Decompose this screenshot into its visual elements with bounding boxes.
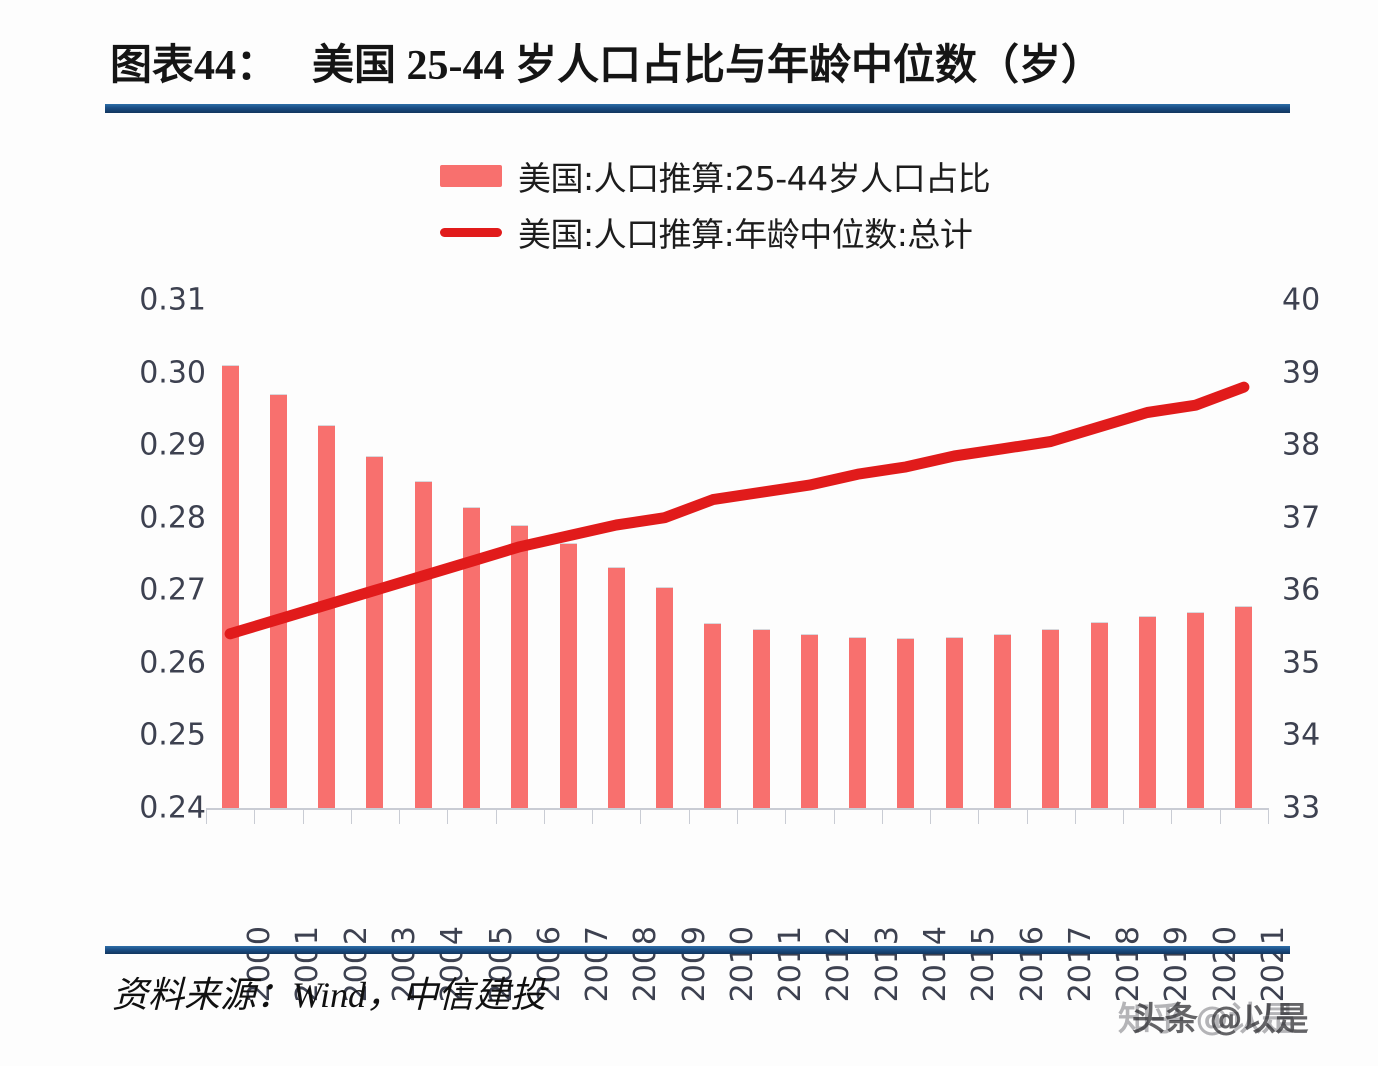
x-axis-ticks [206, 808, 1268, 824]
bar [753, 629, 770, 808]
x-axis-label: 2012 [821, 926, 856, 1002]
y-tick-right: 35 [1282, 645, 1320, 680]
bar [270, 394, 287, 808]
y-tick-left: 0.29 [139, 428, 206, 463]
bar [511, 525, 528, 808]
watermark: 知乎 @认是 头条 @以是 [1118, 990, 1370, 1042]
bar [415, 481, 432, 808]
chart-plot: 0.240.250.260.270.280.290.300.31 3334353… [0, 0, 1378, 1066]
y-tick-left: 0.30 [139, 355, 206, 390]
x-tick [544, 808, 545, 824]
x-axis-label: 2016 [1015, 926, 1050, 1002]
y-tick-right: 37 [1282, 500, 1320, 535]
x-tick [206, 808, 207, 824]
bar [1235, 606, 1252, 808]
y-tick-left: 0.26 [139, 645, 206, 680]
source-note: 资料来源：Wind，中信建投 [112, 962, 812, 1022]
x-tick [303, 808, 304, 824]
bar [704, 623, 721, 808]
x-tick [399, 808, 400, 824]
bar [366, 456, 383, 808]
bar [994, 634, 1011, 808]
x-tick [1220, 808, 1221, 824]
bar [560, 543, 577, 808]
bar [318, 425, 335, 808]
bar [656, 587, 673, 808]
x-axis-labels: 2000200120022003200420052006200720082009… [206, 824, 1268, 934]
bar [608, 567, 625, 808]
y-tick-right: 34 [1282, 718, 1320, 753]
bar [1091, 622, 1108, 808]
x-tick [1027, 808, 1028, 824]
plot-area-bars [206, 300, 1268, 808]
x-axis-label: 2013 [870, 926, 905, 1002]
x-tick [254, 808, 255, 824]
y-tick-right: 39 [1282, 355, 1320, 390]
figure-root: 图表44： 美国 25-44 岁人口占比与年龄中位数（岁） 美国:人口推算:25… [0, 0, 1378, 1066]
y-tick-right: 38 [1282, 428, 1320, 463]
x-tick [351, 808, 352, 824]
bar [946, 637, 963, 808]
y-axis-right: 3334353637383940 [1282, 288, 1342, 828]
x-tick [930, 808, 931, 824]
bar [849, 637, 866, 808]
x-tick [834, 808, 835, 824]
watermark-text-b: 头条 @以是 [1132, 990, 1378, 1042]
x-tick [1123, 808, 1124, 824]
x-tick [1075, 808, 1076, 824]
bar [801, 634, 818, 808]
y-tick-left: 0.27 [139, 573, 206, 608]
x-tick [978, 808, 979, 824]
x-axis-label: 2017 [1063, 926, 1098, 1002]
y-tick-right: 40 [1282, 283, 1320, 318]
x-tick [1268, 808, 1269, 824]
y-tick-right: 36 [1282, 573, 1320, 608]
x-tick [592, 808, 593, 824]
x-tick [737, 808, 738, 824]
x-tick [496, 808, 497, 824]
x-tick [689, 808, 690, 824]
y-tick-left: 0.25 [139, 718, 206, 753]
y-tick-left: 0.28 [139, 500, 206, 535]
y-tick-left: 0.24 [139, 791, 206, 826]
y-axis-left: 0.240.250.260.270.280.290.300.31 [128, 288, 206, 828]
x-tick [447, 808, 448, 824]
x-tick [1171, 808, 1172, 824]
footer-divider [105, 946, 1290, 954]
bar [897, 638, 914, 808]
y-tick-left: 0.31 [139, 283, 206, 318]
bar [1042, 629, 1059, 808]
y-tick-right: 33 [1282, 791, 1320, 826]
x-tick [640, 808, 641, 824]
x-tick [785, 808, 786, 824]
bar [1187, 612, 1204, 808]
bar [463, 507, 480, 808]
x-axis-label: 2014 [918, 926, 953, 1002]
bar [222, 365, 239, 808]
x-axis-label: 2015 [966, 926, 1001, 1002]
x-tick [882, 808, 883, 824]
bar [1139, 616, 1156, 808]
